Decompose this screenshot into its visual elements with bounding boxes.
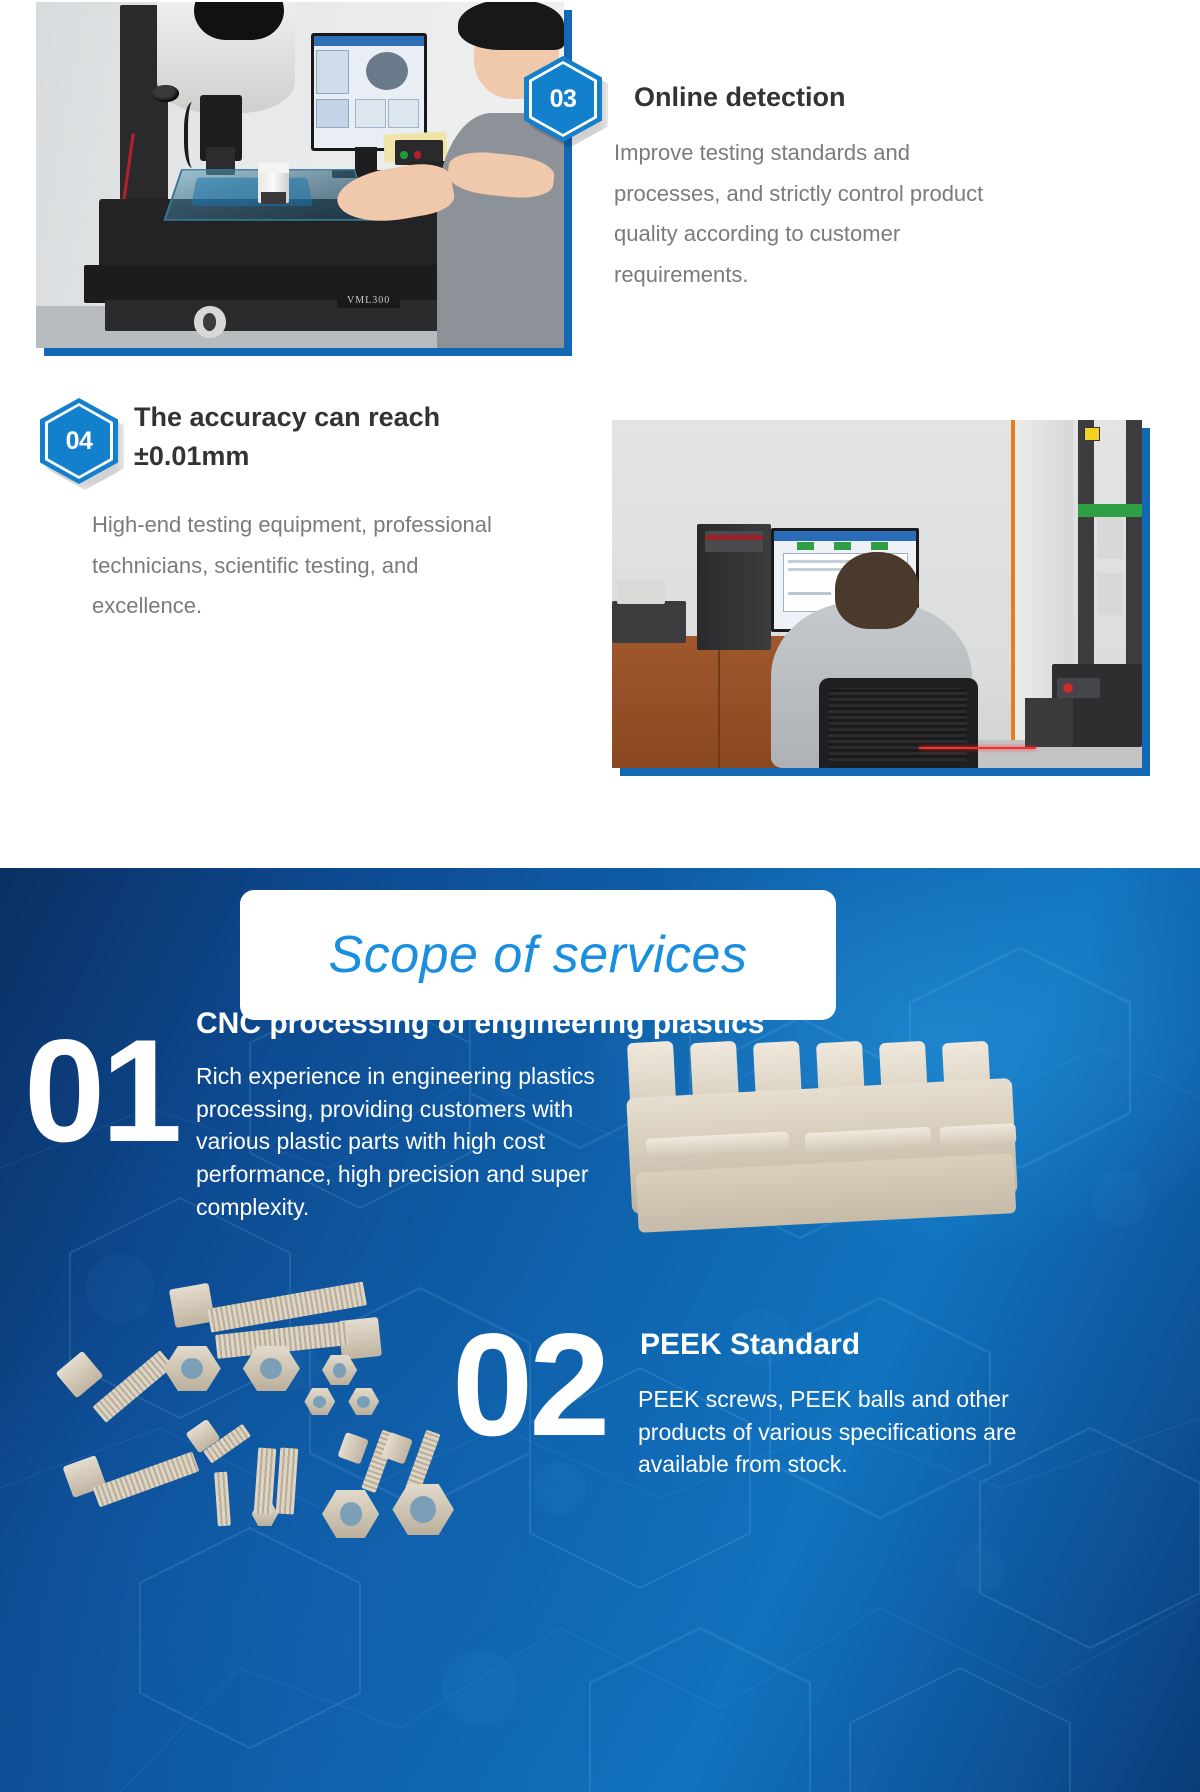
feature-description-online-detection: Improve testing standards and processes,…: [614, 133, 1014, 296]
service-title-01: CNC processing of engineering plastics: [196, 1007, 956, 1041]
hex-badge-04: 04: [40, 398, 118, 484]
features-section: VML300 03 Online detection Improve testi…: [0, 0, 1200, 868]
photo-online-detection: VML300: [44, 10, 572, 356]
hex-badge-03: 03: [524, 56, 602, 142]
photo-online-detection-image: VML300: [36, 2, 564, 348]
warning-sign-icon: [1084, 427, 1100, 441]
service-description-02: PEEK screws, PEEK balls and other produc…: [638, 1383, 1038, 1481]
service-title-02: PEEK Standard: [640, 1328, 1160, 1362]
service-number-01: 01: [24, 1018, 178, 1164]
laser-line: [919, 747, 1036, 749]
service-description-01: Rich experience in engineering plastics …: [196, 1060, 596, 1223]
peek-machined-part-image: [612, 1028, 1032, 1260]
feature-title-accuracy: The accuracy can reach ±0.01mm: [134, 398, 554, 476]
service-number-02: 02: [452, 1312, 606, 1458]
photo-testing-lab-image: [612, 420, 1142, 768]
feature-description-accuracy: High-end testing equipment, professional…: [92, 505, 522, 627]
hex-badge-04-number: 04: [40, 398, 118, 484]
feature-title-online-detection: Online detection: [634, 78, 1054, 117]
machine-model-label: VML300: [337, 293, 400, 309]
scope-banner-card: Scope of services: [240, 890, 836, 1020]
peek-fasteners-image: [58, 1268, 498, 1568]
photo-testing-lab: [620, 428, 1150, 776]
hex-badge-03-number: 03: [524, 56, 602, 142]
scope-banner-title: Scope of services: [329, 925, 748, 985]
